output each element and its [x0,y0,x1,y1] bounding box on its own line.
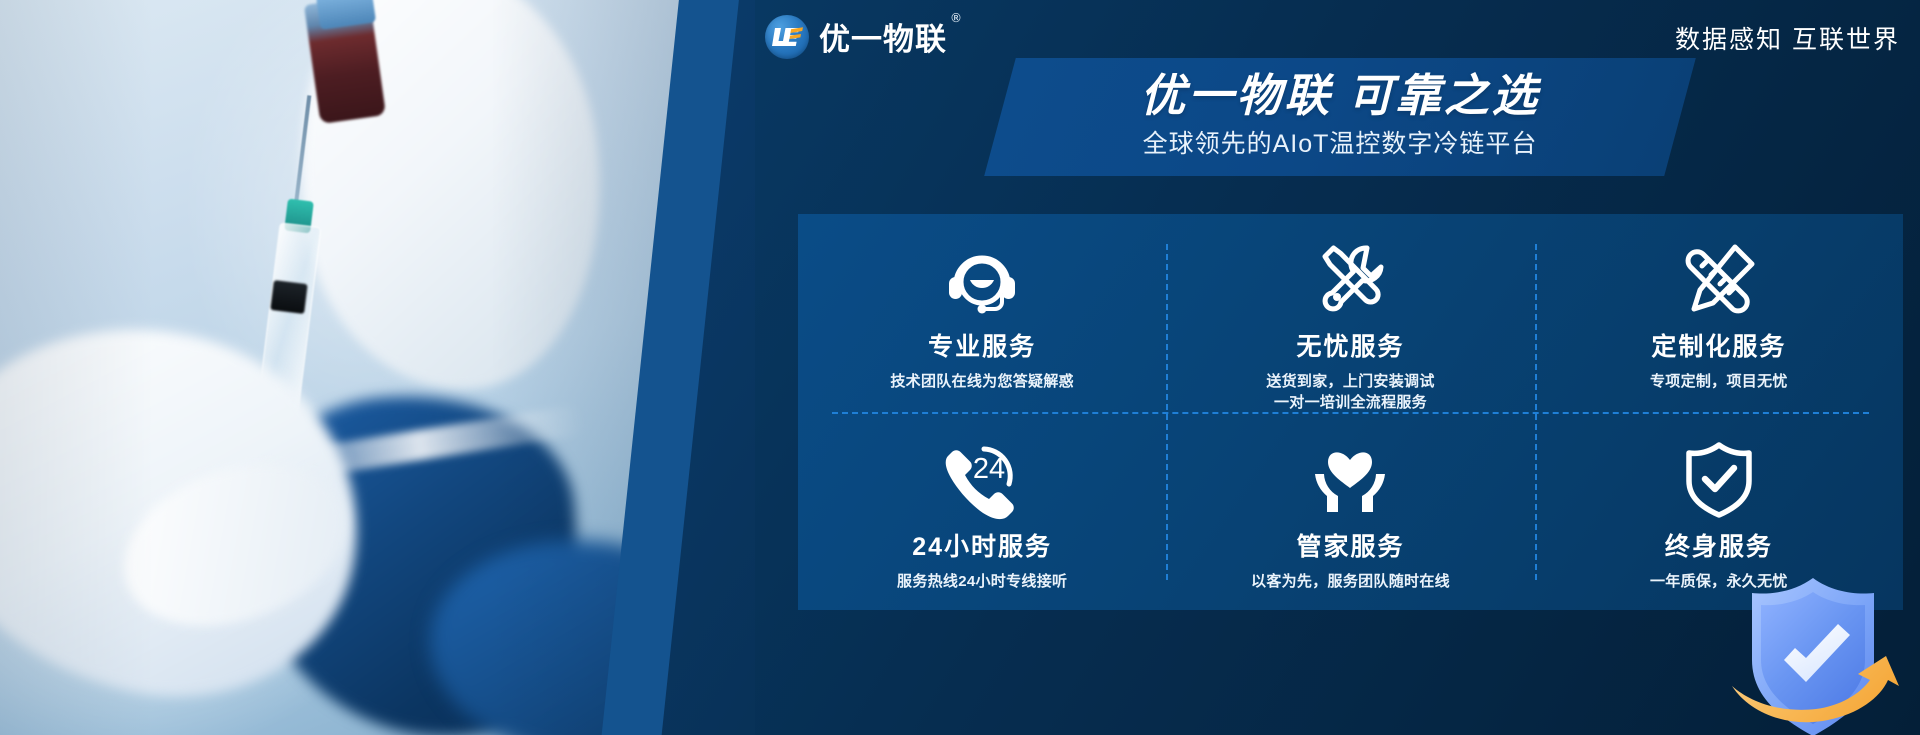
service-card-professional[interactable]: 专业服务 技术团队在线为您答疑解惑 [798,214,1166,414]
phone-24h-icon: 24 [939,434,1025,526]
headline-title: 优一物联 可靠之选 [1140,72,1540,121]
hero-photo [0,0,700,735]
service-desc-line: 送货到家，上门安装调试 [1266,371,1434,393]
service-card-butler[interactable]: 管家服务 以客为先，服务团队随时在线 [1166,414,1534,610]
service-card-worryfree[interactable]: 无忧服务 送货到家，上门安装调试 一对一培训全流程服务 [1166,214,1534,414]
service-desc-line: 服务热线24小时专线接听 [897,571,1067,593]
service-desc-line: 技术团队在线为您答疑解惑 [890,371,1074,393]
service-title: 终身服务 [1665,534,1773,562]
service-desc: 技术团队在线为您答疑解惑 [890,371,1074,393]
promo-banner: 优一物联 ® 数据感知 互联世界 优一物联 可靠之选 全球领先的AIoT温控数字… [0,0,1920,735]
headline-banner: 优一物联 可靠之选 全球领先的AIoT温控数字冷链平台 [984,58,1696,176]
service-title: 管家服务 [1296,534,1404,562]
registered-trademark-icon: ® [950,11,963,25]
service-card-custom[interactable]: 定制化服务 专项定制，项目无忧 [1535,214,1903,414]
brand-name: 优一物联 ® [819,14,947,59]
brand-logo[interactable]: 优一物联 ® [765,14,947,59]
brand-name-text: 优一物联 [819,22,947,58]
service-title: 24小时服务 [912,534,1052,562]
brand-tagline: 数据感知 互联世界 [1675,20,1900,56]
service-desc-line: 以客为先，服务团队随时在线 [1251,571,1450,593]
photo-vignette [0,0,700,735]
services-panel: 专业服务 技术团队在线为您答疑解惑 无忧服务 [798,214,1903,610]
service-desc: 以客为先，服务团队随时在线 [1251,571,1450,593]
le-monogram-icon [765,15,809,59]
header-row: 优一物联 ® 数据感知 互联世界 [765,8,1910,64]
service-desc: 专项定制，项目无忧 [1650,371,1788,393]
service-title: 定制化服务 [1651,334,1786,362]
headset-support-icon [940,234,1024,326]
service-card-24h[interactable]: 24 24小时服务 服务热线24小时专线接听 [798,414,1166,610]
hands-heart-icon [1308,434,1392,526]
pencil-ruler-icon [1677,234,1761,326]
headline-subtitle: 全球领先的AIoT温控数字冷链平台 [1143,124,1538,160]
service-desc: 服务热线24小时专线接听 [897,571,1067,593]
service-desc: 送货到家，上门安装调试 一对一培训全流程服务 [1266,371,1434,415]
service-title: 无忧服务 [1296,334,1404,362]
wrench-screwdriver-icon [1308,234,1392,326]
service-desc: 一年质保，永久无忧 [1650,571,1788,593]
shield-check-icon [1677,434,1761,526]
service-title: 专业服务 [928,334,1036,362]
service-card-lifetime[interactable]: 终身服务 一年质保，永久无忧 [1535,414,1903,610]
service-desc-line: 一对一培训全流程服务 [1266,392,1434,414]
service-desc-line: 一年质保，永久无忧 [1650,571,1788,593]
svg-text:24: 24 [973,453,1005,485]
service-desc-line: 专项定制，项目无忧 [1650,371,1788,393]
